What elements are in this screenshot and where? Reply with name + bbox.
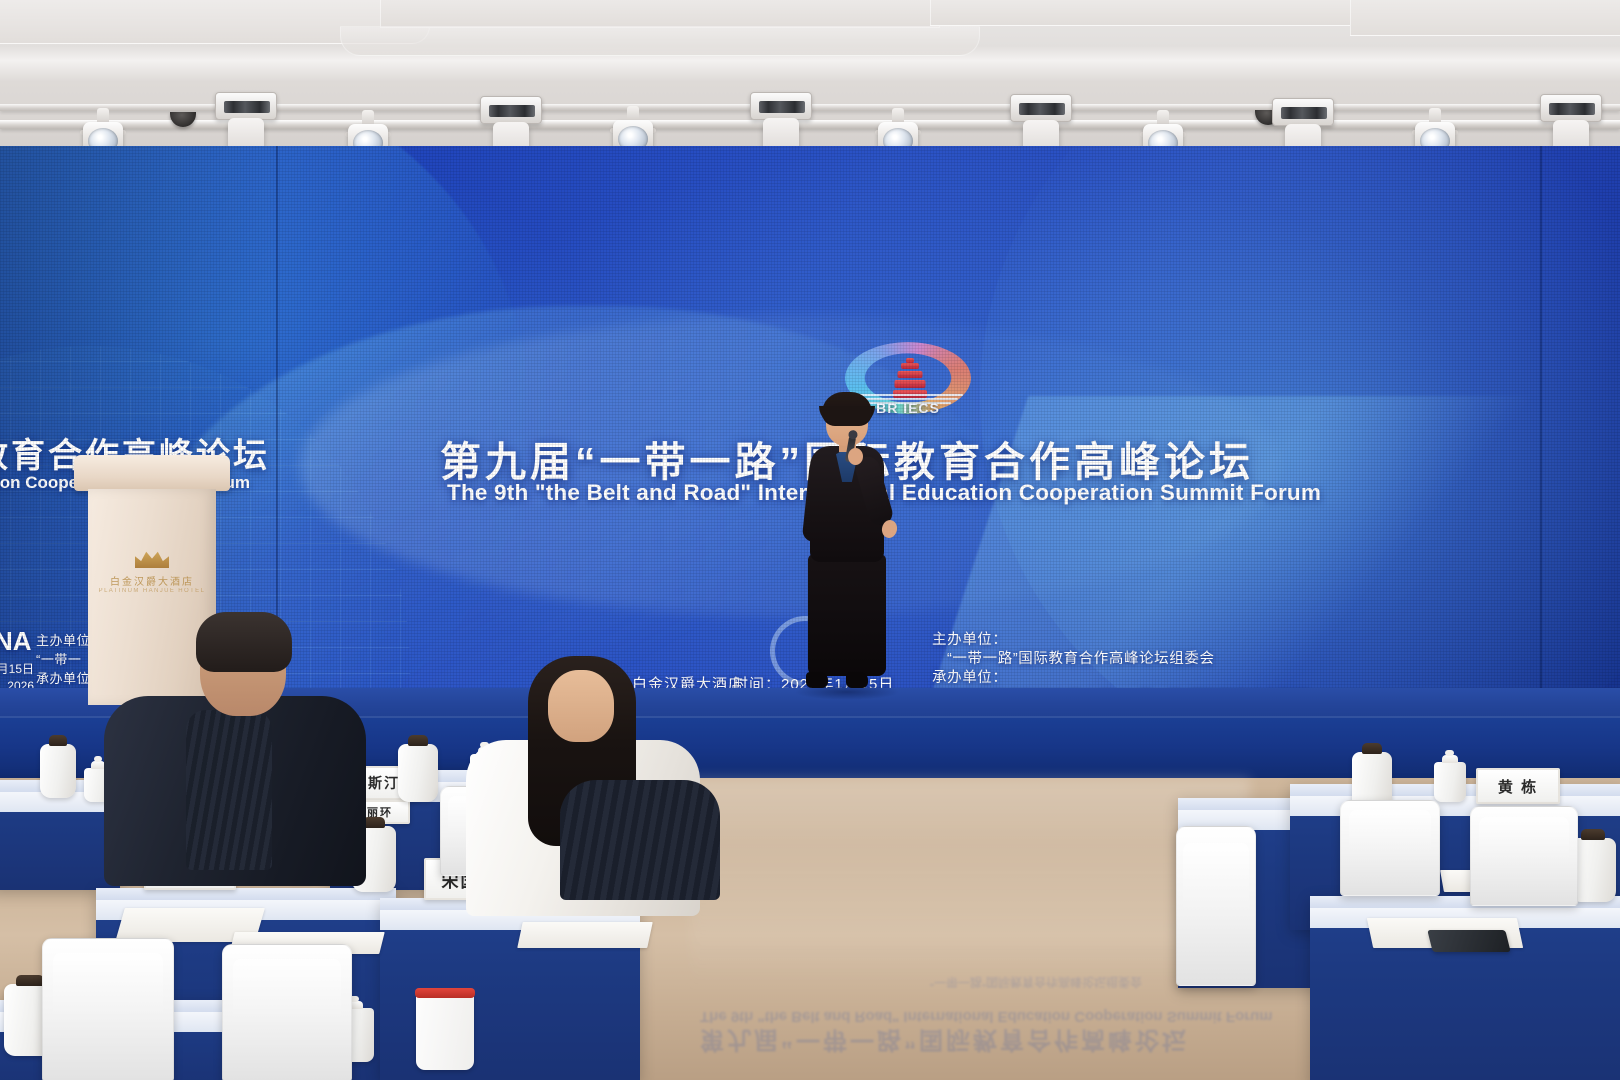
presenter-skirt <box>808 554 886 676</box>
teacup <box>1434 762 1466 802</box>
left-date-line1: 月15日 <box>0 661 34 678</box>
reflected-title-cn: 第九届“一带一路”国际教育合作高峰论坛 <box>700 1025 1189 1060</box>
presenter-hand-right <box>848 448 863 465</box>
presenter-hair <box>822 392 872 426</box>
forum-title-cn: 第九届“一带一路”国际教育合作高峰论坛 <box>440 428 1380 488</box>
conference-photo-scene: 国际教育合作高峰论坛 ional Education Cooperation S… <box>0 0 1620 1080</box>
ceiling-panel <box>1350 0 1620 36</box>
teapot <box>40 744 76 798</box>
chair <box>222 944 352 1080</box>
presenter-shoe-right <box>846 672 868 688</box>
attendee-hair <box>196 612 292 672</box>
host-label: 主办单位： <box>932 631 1310 650</box>
podium-hotel-name-en: PLATINUM HANJUE HOTEL <box>74 588 230 594</box>
teapot <box>398 744 438 802</box>
attendee-front-left <box>104 618 366 884</box>
chair <box>1470 806 1578 906</box>
led-panel-seam <box>1540 146 1542 688</box>
left-panel-date: 月15日 2026 <box>0 661 34 688</box>
document-sheet <box>517 922 653 948</box>
left-panel-fragment: NA <box>0 626 32 657</box>
host-value: “一带一路”国际教育合作高峰论坛组委会 <box>932 650 1310 669</box>
ceiling-panel <box>930 0 1360 26</box>
attendee-back-right <box>560 780 720 900</box>
namecard-text: 黄 栋 <box>1498 776 1538 797</box>
chair <box>1340 800 1440 896</box>
ceiling-panel <box>380 0 940 28</box>
backdrop-swoosh <box>980 146 1620 688</box>
forum-title-en: The 9th "the Belt and Road" Internationa… <box>447 480 1377 506</box>
podium-top <box>74 455 230 491</box>
presenter-on-stage <box>790 392 906 708</box>
left-date-line2: 2026 <box>0 678 34 688</box>
paper-cup <box>416 994 474 1070</box>
attendee-torso <box>560 780 720 900</box>
ceiling-panel <box>340 26 980 56</box>
chair <box>42 938 174 1080</box>
organizers-block: 主办单位： “一带一路”国际教育合作高峰论坛组委会 承办单位： 苏州天弘教育科技… <box>932 631 1310 688</box>
reflected-title-en: The 9th "the Belt and Road" Internationa… <box>700 1008 1273 1025</box>
mobile-phone <box>1427 930 1510 952</box>
chair <box>1176 826 1256 986</box>
organizer-label: 承办单位： <box>932 669 1310 688</box>
led-panel-seam <box>276 146 278 688</box>
podium-hotel-name-cn: 白金汉爵大酒店 <box>74 573 230 588</box>
attendee-face <box>548 670 614 742</box>
namecard: 黄 栋 <box>1476 768 1560 804</box>
presenter-shoe-left <box>806 672 828 688</box>
reflected-host: “一带一路”国际教育合作高峰论坛组委会 <box>930 973 1142 990</box>
attendee-suit-stripes <box>186 710 272 870</box>
